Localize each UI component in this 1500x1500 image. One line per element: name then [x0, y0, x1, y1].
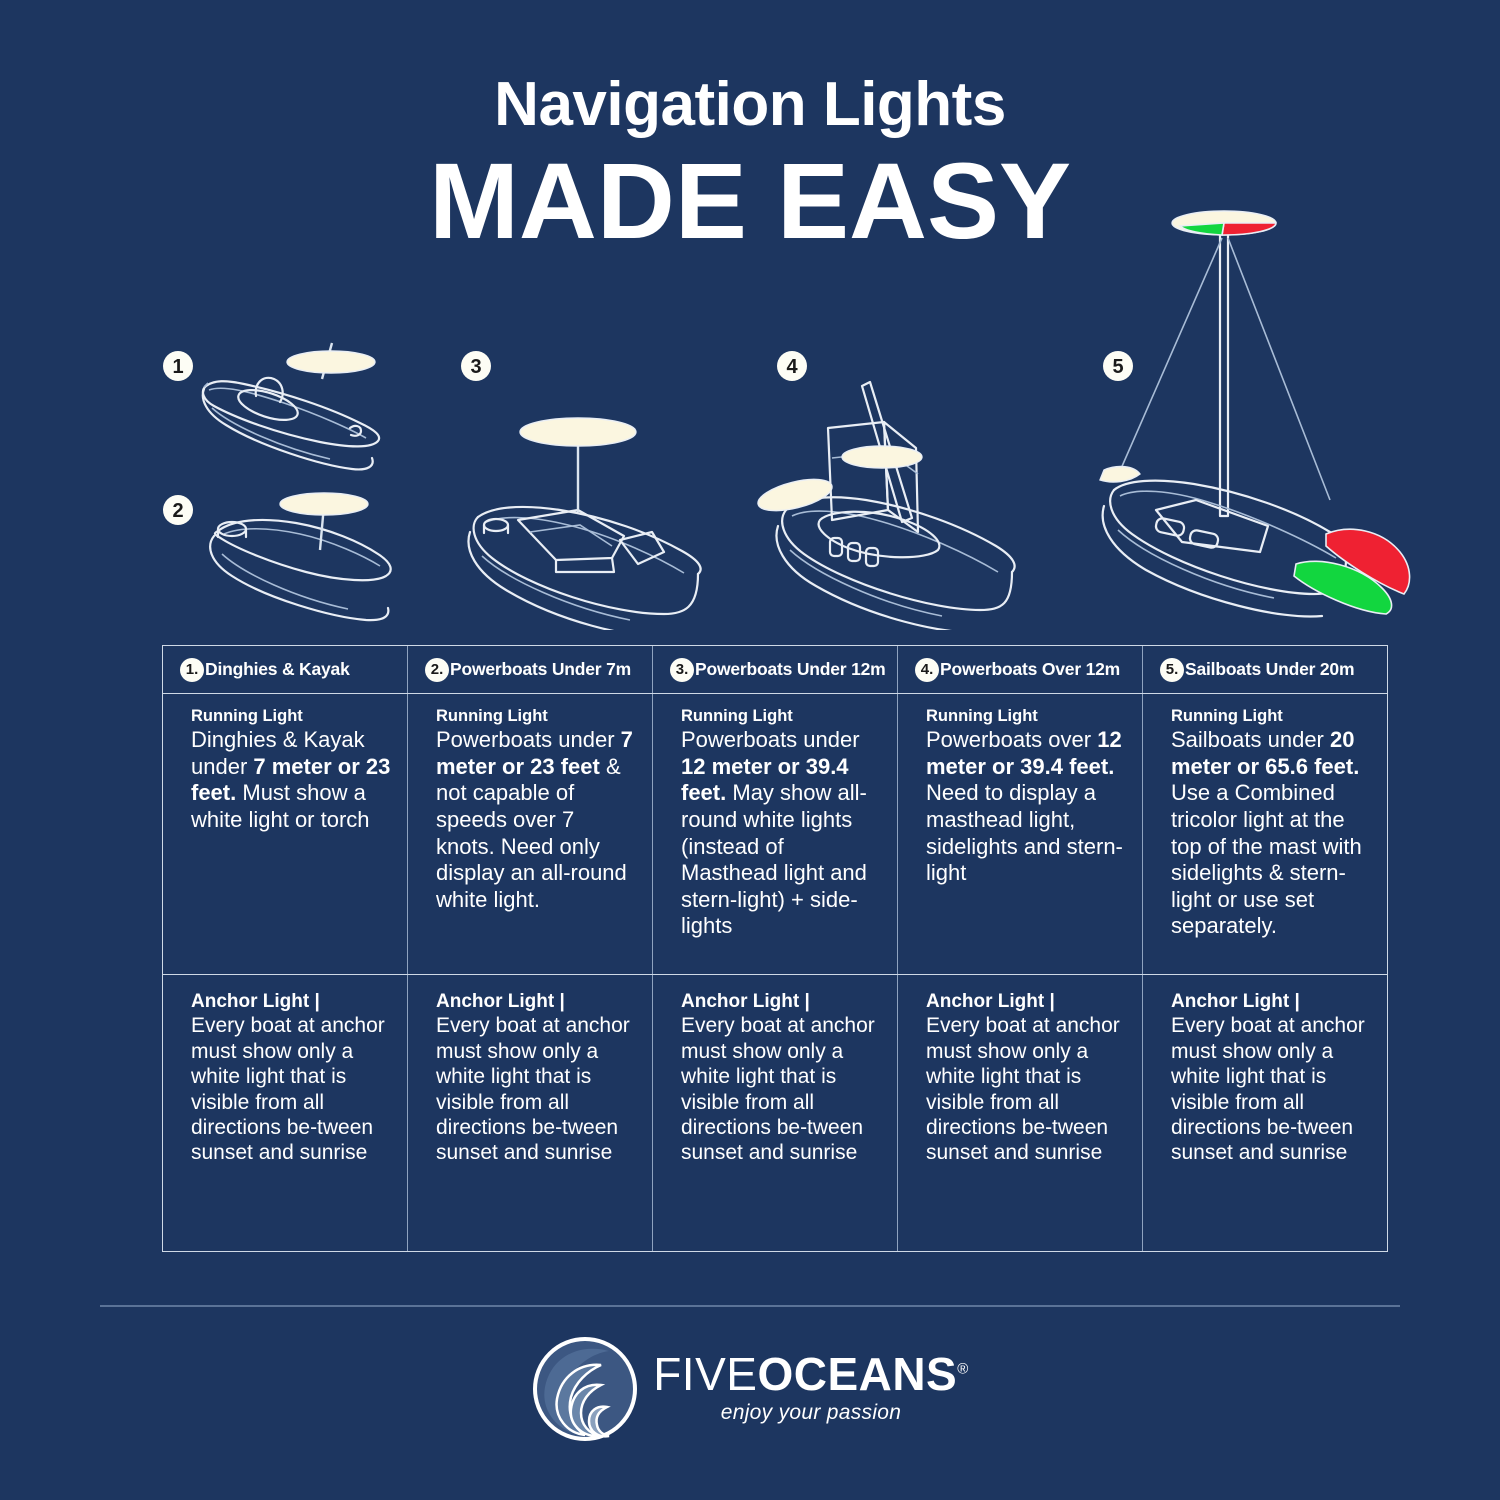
svg-text:1: 1 — [172, 356, 183, 378]
running-light-label-2: Running Light — [436, 707, 638, 725]
column-number-badge-3: 3. — [670, 658, 694, 682]
illustration-1-kayak: 1 — [163, 343, 379, 469]
svg-text:4: 4 — [786, 356, 798, 378]
boat-illustrations: .ol { fill:none; stroke:#e9eef5; stroke-… — [0, 180, 1500, 630]
anchor-light-label-3: Anchor Light | — [681, 991, 883, 1013]
infographic-page: Navigation Lights MADE EASY .ol { fill:n… — [0, 0, 1500, 1500]
running-light-row: Running Light Dinghies & Kayak under 7 m… — [163, 694, 1387, 975]
column-number-badge-2: 2. — [425, 658, 449, 682]
column-header-label-2: Powerboats Under 7m — [450, 659, 631, 680]
illustration-5-sailboat: 5 — [1100, 211, 1410, 617]
page-title-line1: Navigation Lights — [0, 74, 1500, 136]
footer-divider — [100, 1305, 1400, 1307]
running-light-label-3: Running Light — [681, 707, 883, 725]
table-header-cell-3: 3. Powerboats Under 12m — [653, 646, 898, 693]
running-light-cell-1: Running Light Dinghies & Kayak under 7 m… — [163, 694, 408, 974]
column-number-badge-5: 5. — [1160, 658, 1184, 682]
anchor-light-text-2: Every boat at anchor must show only a wh… — [436, 1013, 638, 1165]
running-light-text-5: Sailboats under 20 meter or 65.6 feet. U… — [1171, 727, 1373, 940]
brand-wordmark: FIVEOCEANS® — [653, 1351, 969, 1397]
anchor-light-cell-5: Anchor Light | Every boat at anchor must… — [1143, 975, 1387, 1251]
running-light-label-1: Running Light — [191, 707, 393, 725]
column-number-badge-1: 1. — [180, 658, 204, 682]
running-light-text-2: Powerboats under 7 meter or 23 feet & no… — [436, 727, 638, 913]
illustration-3-powerboat-under-12m: 3 — [461, 351, 768, 630]
anchor-light-label-4: Anchor Light | — [926, 991, 1128, 1013]
column-header-label-5: Sailboats Under 20m — [1185, 659, 1354, 680]
anchor-light-label-1: Anchor Light | — [191, 991, 393, 1013]
running-light-label-5: Running Light — [1171, 707, 1373, 725]
anchor-light-text-5: Every boat at anchor must show only a wh… — [1171, 1013, 1373, 1165]
anchor-light-cell-2: Anchor Light | Every boat at anchor must… — [408, 975, 653, 1251]
brand-second-word: OCEANS — [757, 1348, 957, 1400]
table-header-cell-5: 5. Sailboats Under 20m — [1143, 646, 1387, 693]
running-light-cell-3: Running Light Powerboats under 12 meter … — [653, 694, 898, 974]
anchor-light-cell-3: Anchor Light | Every boat at anchor must… — [653, 975, 898, 1251]
running-light-text-3: Powerboats under 12 meter or 39.4 feet. … — [681, 727, 883, 940]
column-header-label-3: Powerboats Under 12m — [695, 659, 886, 680]
svg-text:3: 3 — [470, 356, 481, 378]
footer-brand: FIVEOCEANS® enjoy your passion — [0, 1335, 1500, 1448]
anchor-light-text-4: Every boat at anchor must show only a wh… — [926, 1013, 1128, 1165]
anchor-light-cell-4: Anchor Light | Every boat at anchor must… — [898, 975, 1143, 1251]
table-header-cell-2: 2. Powerboats Under 7m — [408, 646, 653, 693]
running-light-cell-5: Running Light Sailboats under 20 meter o… — [1143, 694, 1387, 974]
running-light-text-1: Dinghies & Kayak under 7 meter or 23 fee… — [191, 727, 393, 833]
registered-trademark-icon: ® — [957, 1361, 969, 1378]
svg-text:2: 2 — [172, 500, 183, 522]
illustration-2-small-powerboat: 2 — [163, 493, 391, 620]
anchor-light-row: Anchor Light | Every boat at anchor must… — [163, 975, 1387, 1251]
anchor-light-label-2: Anchor Light | — [436, 991, 638, 1013]
anchor-light-cell-1: Anchor Light | Every boat at anchor must… — [163, 975, 408, 1251]
running-light-cell-2: Running Light Powerboats under 7 meter o… — [408, 694, 653, 974]
column-header-label-1: Dinghies & Kayak — [205, 659, 350, 680]
brand-first-word: FIVE — [653, 1348, 757, 1400]
illustration-4-powerboat-over-12m: 4 — [755, 351, 1075, 630]
five-oceans-logo-icon — [531, 1335, 639, 1448]
anchor-light-text-3: Every boat at anchor must show only a wh… — [681, 1013, 883, 1165]
anchor-light-text-1: Every boat at anchor must show only a wh… — [191, 1013, 393, 1165]
table-header-row: 1. Dinghies & Kayak 2. Powerboats Under … — [163, 646, 1387, 694]
table-header-cell-1: 1. Dinghies & Kayak — [163, 646, 408, 693]
svg-text:5: 5 — [1112, 356, 1123, 378]
brand-tagline: enjoy your passion — [653, 1401, 969, 1425]
column-number-badge-4: 4. — [915, 658, 939, 682]
anchor-light-label-5: Anchor Light | — [1171, 991, 1373, 1013]
running-light-label-4: Running Light — [926, 707, 1128, 725]
column-header-label-4: Powerboats Over 12m — [940, 659, 1120, 680]
running-light-cell-4: Running Light Powerboats over 12 meter o… — [898, 694, 1143, 974]
table-header-cell-4: 4. Powerboats Over 12m — [898, 646, 1143, 693]
running-light-text-4: Powerboats over 12 meter or 39.4 feet. N… — [926, 727, 1128, 887]
navigation-lights-table: 1. Dinghies & Kayak 2. Powerboats Under … — [162, 645, 1388, 1252]
